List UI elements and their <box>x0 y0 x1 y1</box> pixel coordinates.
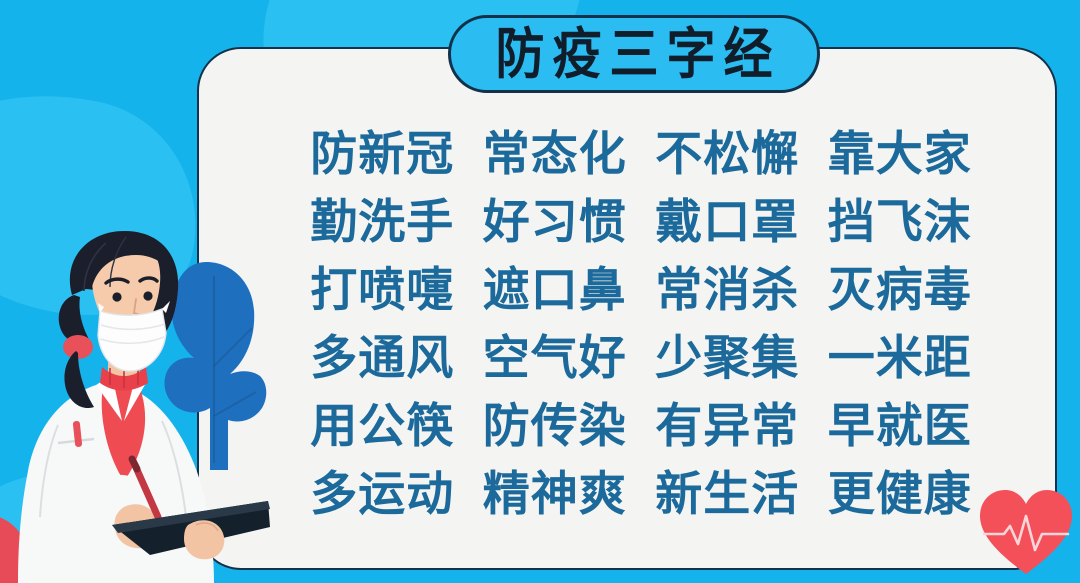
verse-cell-r3-c3: 常消杀 <box>641 256 814 324</box>
verse-cell-r1-c1: 防新冠 <box>296 120 469 188</box>
verse-cell-r6-c4: 更健康 <box>814 460 987 528</box>
poster-root: 防疫三字经 防新冠常态化不松懈靠大家勤洗手好习惯戴口罩挡飞沫打喷嚏遮口鼻常消杀灭… <box>0 0 1080 583</box>
page-title: 防疫三字经 <box>487 27 780 82</box>
verse-cell-r6-c3: 新生活 <box>641 460 814 528</box>
verse-cell-r4-c2: 空气好 <box>469 324 642 392</box>
verse-cell-r5-c1: 用公筷 <box>296 392 469 460</box>
heart-with-ecg-icon <box>978 488 1074 576</box>
doctor-illustration <box>0 225 270 583</box>
verse-cell-r5-c2: 防传染 <box>469 392 642 460</box>
verse-cell-r4-c4: 一米距 <box>814 324 987 392</box>
verse-cell-r5-c3: 有异常 <box>641 392 814 460</box>
verse-cell-r6-c1: 多运动 <box>296 460 469 528</box>
verse-cell-r3-c4: 灭病毒 <box>814 256 987 324</box>
verse-cell-r2-c3: 戴口罩 <box>641 188 814 256</box>
verse-cell-r4-c1: 多通风 <box>296 324 469 392</box>
verse-grid: 防新冠常态化不松懈靠大家勤洗手好习惯戴口罩挡飞沫打喷嚏遮口鼻常消杀灭病毒多通风空… <box>296 120 986 528</box>
verse-cell-r2-c1: 勤洗手 <box>296 188 469 256</box>
title-pill: 防疫三字经 <box>448 15 820 93</box>
verse-cell-r6-c2: 精神爽 <box>469 460 642 528</box>
verse-cell-r1-c2: 常态化 <box>469 120 642 188</box>
verse-cell-r3-c2: 遮口鼻 <box>469 256 642 324</box>
verse-cell-r1-c4: 靠大家 <box>814 120 987 188</box>
verse-cell-r2-c2: 好习惯 <box>469 188 642 256</box>
verse-cell-r4-c3: 少聚集 <box>641 324 814 392</box>
verse-cell-r3-c1: 打喷嚏 <box>296 256 469 324</box>
verse-cell-r5-c4: 早就医 <box>814 392 987 460</box>
verse-cell-r2-c4: 挡飞沫 <box>814 188 987 256</box>
verse-cell-r1-c3: 不松懈 <box>641 120 814 188</box>
